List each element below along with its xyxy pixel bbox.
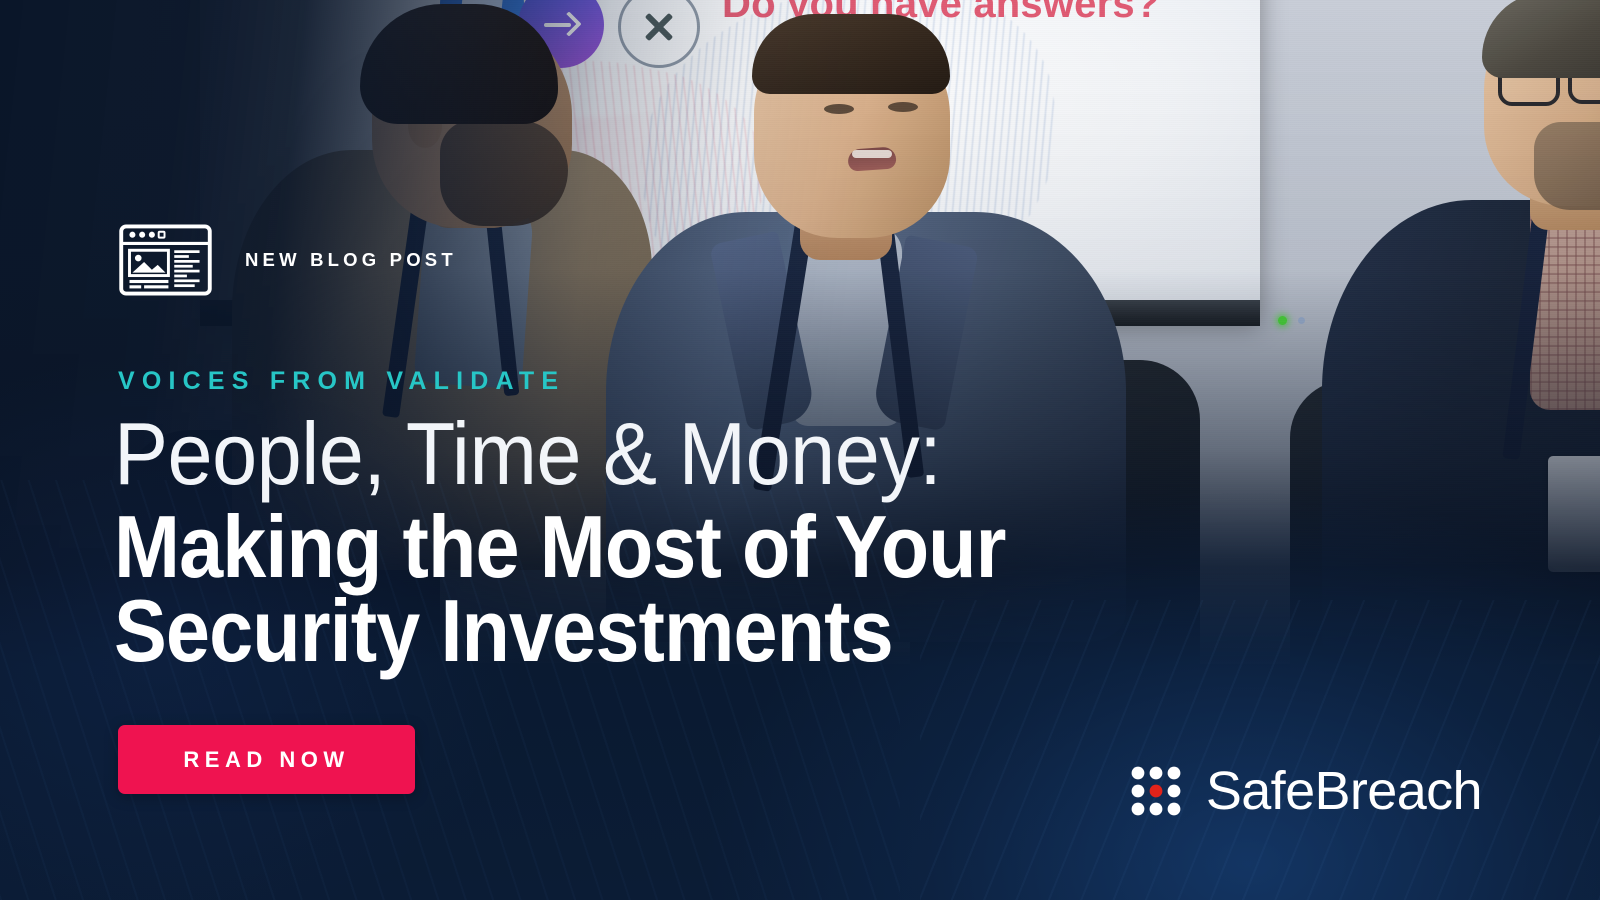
safebreach-wordmark: SafeBreach [1206,764,1482,818]
page-title: People, Time & Money: Making the Most of… [114,410,1105,676]
safebreach-dot-grid-icon [1130,765,1182,817]
headline-line-2: Making the Most of Your [114,502,1006,592]
blog-promo-banner: Do you have answers? [0,0,1600,900]
banner-content: NEW BLOG POST VOICES FROM VALIDATE Peopl… [0,0,1600,900]
read-now-button[interactable]: READ NOW [118,725,415,794]
new-blog-post-badge: NEW BLOG POST [118,224,457,296]
blog-post-window-icon [118,224,213,296]
new-blog-post-label: NEW BLOG POST [245,249,457,271]
headline-line-3: Security Investments [114,586,1006,676]
safebreach-logo[interactable]: SafeBreach [1130,764,1482,818]
series-kicker: VOICES FROM VALIDATE [118,367,565,396]
headline-line-1: People, Time & Money: [114,410,1025,498]
